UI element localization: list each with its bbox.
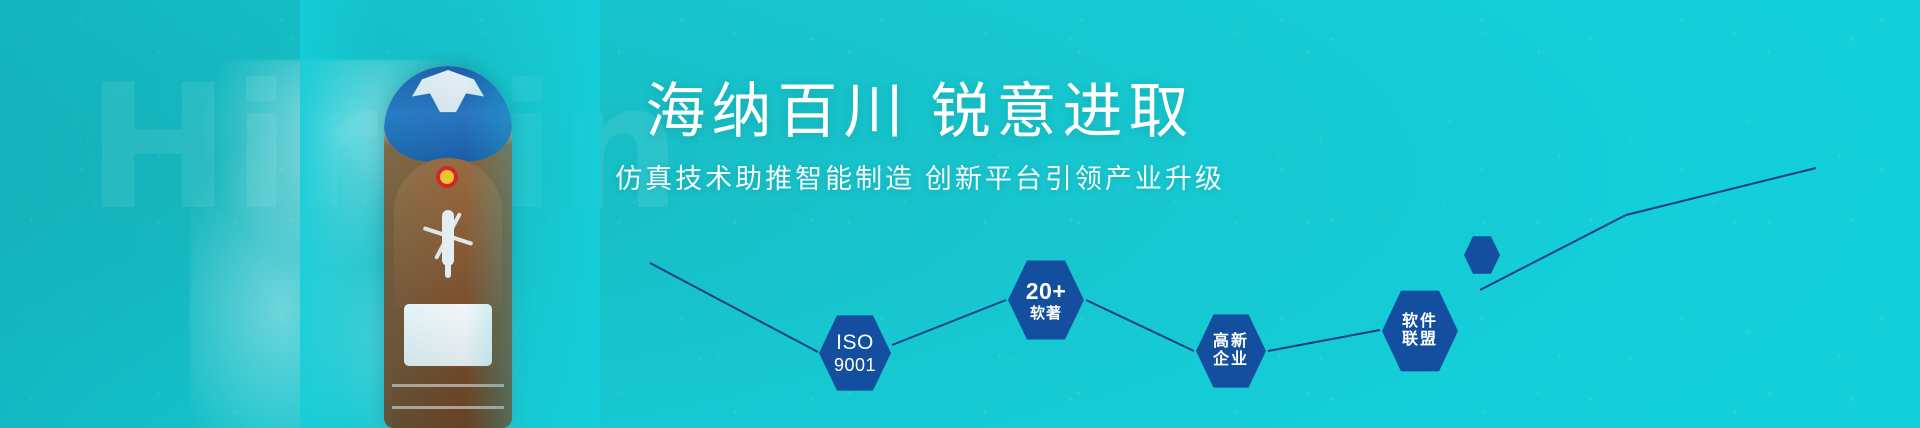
connector-line-2 [892, 300, 1006, 345]
badge-software-alliance[interactable]: 软件 联盟 [1382, 288, 1458, 374]
ship-cabin [404, 304, 492, 366]
ship-hull [384, 66, 512, 428]
connector-line-6 [1626, 168, 1816, 215]
connector-line-5 [1480, 215, 1626, 290]
life-ring-icon [436, 166, 458, 188]
connector-line-3 [1086, 300, 1194, 351]
connector-line-4 [1268, 330, 1380, 351]
badge-high-tech-enterprise[interactable]: 高新 企业 [1196, 312, 1266, 390]
badge-alliance-line1: 软件 [1402, 313, 1438, 331]
hero-headline: 海纳百川 锐意进取 [610, 80, 1230, 145]
ship-bow-marking [398, 70, 498, 148]
badge-alliance-line2: 联盟 [1402, 331, 1438, 349]
badge-iso-9001[interactable]: ISO 9001 [819, 313, 891, 393]
badge-software-copyright[interactable]: 20+ 软著 [1008, 258, 1084, 342]
badge-decorative-hexagon [1464, 235, 1500, 275]
connector-line-1 [650, 263, 818, 352]
badge-hightech-line2: 企业 [1213, 351, 1249, 369]
badge-iso-line2: 9001 [834, 355, 876, 376]
badge-iso-line1: ISO [836, 331, 874, 355]
badge-hightech-line1: 高新 [1213, 333, 1249, 351]
badge-soft-line1: 20+ [1026, 278, 1067, 304]
hero-subheadline: 仿真技术助推智能制造 创新平台引领产业升级 [610, 163, 1230, 195]
hero-banner: Hirain [0, 0, 1920, 428]
helicopter-icon [428, 194, 468, 280]
badge-soft-line2: 软著 [1030, 305, 1062, 322]
ship-stern [392, 368, 504, 428]
hero-copy: 海纳百川 锐意进取 仿真技术助推智能制造 创新平台引领产业升级 [610, 80, 1230, 195]
ship-photo [300, 0, 600, 428]
